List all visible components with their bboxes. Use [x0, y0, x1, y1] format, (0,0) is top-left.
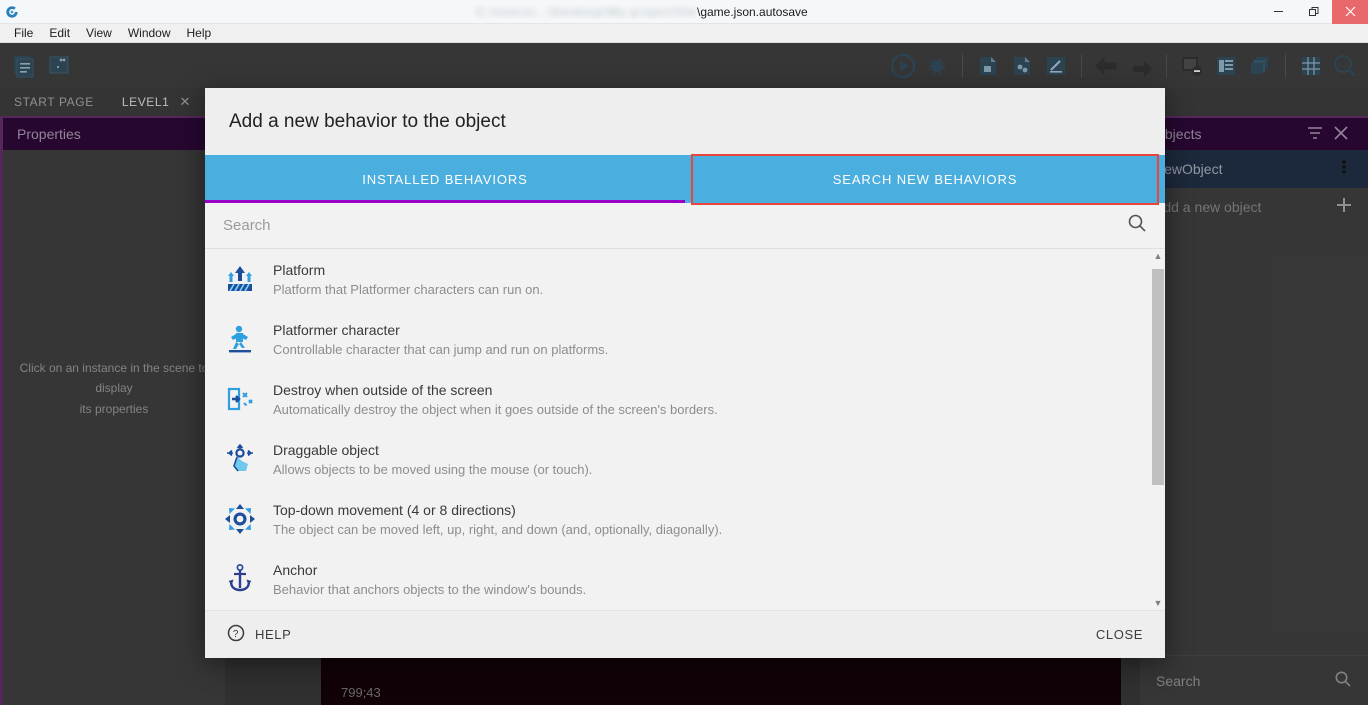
behavior-list-item[interactable]: Platform Platform that Platformer charac… — [205, 249, 1165, 309]
objects-panel: Objects NewObject Add a new object — [1140, 118, 1368, 705]
menu-item-view[interactable]: View — [78, 24, 120, 43]
toolbar-left-group — [0, 51, 74, 81]
svg-text:1:1: 1:1 — [1338, 62, 1348, 69]
window-controls — [1260, 0, 1368, 24]
behavior-name: Platformer character — [273, 322, 608, 338]
menu-item-edit[interactable]: Edit — [41, 24, 78, 43]
object-groups-icon[interactable] — [1245, 51, 1275, 81]
behavior-text: Platformer character Controllable charac… — [273, 321, 608, 357]
redo-icon[interactable] — [1126, 51, 1156, 81]
properties-panel: Properties Click on an instance in the s… — [0, 118, 225, 705]
add-external-events-icon[interactable] — [1041, 51, 1071, 81]
platformer-character-icon — [223, 321, 257, 357]
filter-icon[interactable] — [1302, 124, 1328, 145]
debug-bug-icon[interactable] — [922, 51, 952, 81]
minimize-button[interactable] — [1260, 0, 1296, 24]
tab-start-page-label: START PAGE — [14, 95, 94, 109]
search-icon[interactable] — [1334, 670, 1352, 691]
properties-empty-state: Click on an instance in the scene to dis… — [3, 358, 225, 419]
behavior-name: Destroy when outside of the screen — [273, 382, 718, 398]
window-title: C:\Users\...\Desktop\My project\file\gam… — [24, 5, 1260, 19]
properties-empty-line-2: its properties — [15, 399, 213, 419]
maximize-button[interactable] — [1296, 0, 1332, 24]
behavior-text: Draggable object Allows objects to be mo… — [273, 441, 592, 477]
tab-installed-behaviors[interactable]: INSTALLED BEHAVIORS — [205, 155, 685, 203]
behavior-search-placeholder: Search — [223, 217, 1127, 234]
behavior-description: Automatically destroy the object when it… — [273, 402, 718, 417]
help-circle-icon: ? — [227, 624, 245, 645]
behavior-list-item[interactable]: Platformer character Controllable charac… — [205, 309, 1165, 369]
add-behavior-dialog: Add a new behavior to the object INSTALL… — [205, 88, 1165, 658]
window-title-redacted: C:\Users\...\Desktop\My project\file — [476, 5, 697, 19]
svg-text:?: ? — [233, 629, 239, 640]
close-window-button[interactable] — [1332, 0, 1368, 24]
objects-panel-title: Objects — [1154, 126, 1302, 142]
preview-play-icon[interactable] — [888, 51, 918, 81]
behavior-description: Platform that Platformer characters can … — [273, 282, 543, 297]
add-external-layout-icon[interactable] — [1007, 51, 1037, 81]
dialog-tab-bar: INSTALLED BEHAVIORS SEARCH NEW BEHAVIORS — [205, 155, 1165, 203]
top-down-movement-icon — [223, 501, 257, 537]
open-project-icon[interactable] — [8, 51, 38, 81]
close-dialog-button[interactable]: CLOSE — [1096, 627, 1143, 642]
help-button[interactable]: ? HELP — [227, 624, 291, 645]
scrollbar-track[interactable] — [1151, 263, 1165, 596]
menu-item-file[interactable]: File — [6, 24, 41, 43]
tab-level1[interactable]: LEVEL1 ✕ — [108, 87, 205, 117]
zoom-reset-icon[interactable]: 1:1 — [1330, 51, 1360, 81]
platform-icon — [223, 261, 257, 297]
object-list-item[interactable]: NewObject — [1140, 150, 1368, 188]
destroy-outside-screen-icon — [223, 381, 257, 417]
behavior-text: Top-down movement (4 or 8 directions) Th… — [273, 501, 722, 537]
behavior-list-scrollbar[interactable]: ▲ ▼ — [1151, 249, 1165, 610]
tab-start-page[interactable]: START PAGE — [0, 87, 108, 117]
close-icon[interactable]: ✕ — [179, 94, 191, 110]
behavior-name: Draggable object — [273, 442, 592, 458]
delete-object-icon[interactable] — [1177, 51, 1207, 81]
menu-item-window[interactable]: Window — [120, 24, 179, 43]
close-icon[interactable] — [1328, 125, 1354, 144]
toolbar-separator-4 — [1285, 54, 1286, 78]
objects-panel-header: Objects — [1140, 118, 1368, 150]
behavior-description: Controllable character that can jump and… — [273, 342, 608, 357]
behavior-name: Platform — [273, 262, 543, 278]
toolbar-separator-3 — [1166, 54, 1167, 78]
properties-panel-title: Properties — [17, 126, 211, 142]
properties-panel-header: Properties — [3, 118, 225, 150]
tab-installed-behaviors-label: INSTALLED BEHAVIORS — [362, 172, 527, 187]
application-window: C:\Users\...\Desktop\My project\file\gam… — [0, 0, 1368, 705]
help-button-label: HELP — [255, 627, 291, 642]
behavior-text: Anchor Behavior that anchors objects to … — [273, 561, 586, 597]
behavior-list-item[interactable]: Destroy when outside of the screen Autom… — [205, 369, 1165, 429]
menu-bar: File Edit View Window Help — [0, 24, 1368, 43]
tab-level1-label: LEVEL1 — [122, 95, 170, 109]
undo-icon[interactable] — [1092, 51, 1122, 81]
behavior-description: The object can be moved left, up, right,… — [273, 522, 722, 537]
toolbar-separator-2 — [1081, 54, 1082, 78]
behavior-list[interactable]: Platform Platform that Platformer charac… — [205, 249, 1165, 610]
app-logo-icon — [0, 0, 24, 24]
plus-icon[interactable] — [1334, 195, 1354, 219]
properties-empty-line-1: Click on an instance in the scene to dis… — [15, 358, 213, 399]
project-manager-icon[interactable] — [44, 51, 74, 81]
menu-item-help[interactable]: Help — [179, 24, 220, 43]
object-name: NewObject — [1154, 161, 1334, 177]
behavior-description: Allows objects to be moved using the mou… — [273, 462, 592, 477]
dialog-footer: ? HELP CLOSE — [205, 610, 1165, 658]
behavior-name: Anchor — [273, 562, 586, 578]
behavior-text: Platform Platform that Platformer charac… — [273, 261, 543, 297]
toolbar-right-group: 1:1 — [888, 51, 1368, 81]
dialog-title: Add a new behavior to the object — [205, 88, 1165, 155]
add-scene-icon[interactable] — [973, 51, 1003, 81]
add-new-object-button[interactable]: Add a new object — [1140, 188, 1368, 226]
draggable-object-icon — [223, 441, 257, 477]
title-bar: C:\Users\...\Desktop\My project\file\gam… — [0, 0, 1368, 24]
window-title-suffix: \game.json.autosave — [697, 5, 808, 19]
cursor-coordinates: 799;43 — [341, 685, 381, 700]
anchor-icon — [223, 561, 257, 597]
behavior-name: Top-down movement (4 or 8 directions) — [273, 502, 722, 518]
toolbar-separator — [962, 54, 963, 78]
behavior-list-item[interactable]: Top-down movement (4 or 8 directions) Th… — [205, 489, 1165, 549]
search-icon[interactable] — [1127, 213, 1147, 238]
objects-search-field[interactable]: Search — [1140, 655, 1368, 705]
behavior-list-item[interactable]: Draggable object Allows objects to be mo… — [205, 429, 1165, 489]
scroll-up-icon[interactable]: ▲ — [1154, 249, 1163, 263]
scroll-down-icon[interactable]: ▼ — [1154, 596, 1163, 610]
dialog-active-tab-indicator — [205, 200, 685, 203]
scrollbar-thumb[interactable] — [1152, 269, 1164, 485]
object-list-icon[interactable] — [1211, 51, 1241, 81]
add-new-object-label: Add a new object — [1154, 199, 1334, 215]
tab-search-new-behaviors[interactable]: SEARCH NEW BEHAVIORS — [685, 155, 1165, 203]
main-toolbar: 1:1 — [0, 43, 1368, 88]
objects-search-placeholder: Search — [1156, 673, 1334, 689]
kebab-menu-icon[interactable] — [1334, 159, 1354, 179]
behavior-search-field[interactable]: Search — [205, 203, 1165, 249]
behavior-text: Destroy when outside of the screen Autom… — [273, 381, 718, 417]
behavior-list-item[interactable]: Anchor Behavior that anchors objects to … — [205, 549, 1165, 609]
tab-search-new-behaviors-label: SEARCH NEW BEHAVIORS — [833, 172, 1018, 187]
grid-settings-icon[interactable] — [1296, 51, 1326, 81]
behavior-description: Behavior that anchors objects to the win… — [273, 582, 586, 597]
